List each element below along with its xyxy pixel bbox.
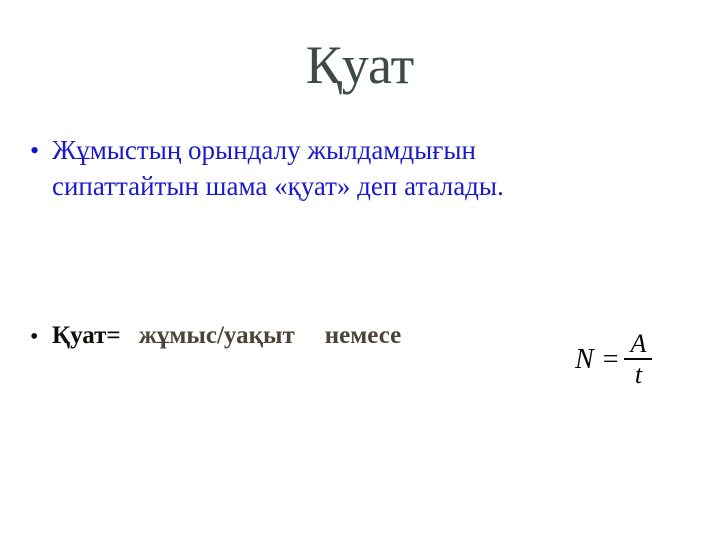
- formula-numerator-a: A: [627, 330, 651, 358]
- page-title: Қуат: [0, 36, 720, 94]
- slide-canvas: Қуат • Жұмыстың орындалу жылдамдығын сип…: [0, 0, 720, 540]
- bullet-text-formula: Қуат=жұмыс/уақытнемесе: [52, 320, 401, 352]
- formula-equals-sign: =: [594, 346, 625, 374]
- formula-denominator-t: t: [631, 360, 646, 389]
- power-term-label: Қуат=: [52, 322, 121, 349]
- power-expression-label: жұмыс/уақыт: [121, 322, 295, 349]
- definition-line-1: Жұмыстың орындалу жылдамдығын: [52, 135, 476, 165]
- bullet-point-icon: •: [22, 132, 52, 164]
- conjunction-label: немесе: [295, 322, 401, 349]
- bullet-point-icon: •: [22, 320, 52, 349]
- bullet-item-definition: • Жұмыстың орындалу жылдамдығын сипаттай…: [22, 132, 642, 204]
- bullet-item-formula-text: • Қуат=жұмыс/уақытнемесе: [22, 320, 642, 352]
- bullet-text-definition: Жұмыстың орындалу жылдамдығын сипаттайты…: [52, 132, 504, 204]
- formula-fraction: A t: [624, 330, 652, 389]
- formula-variable-n: N: [575, 346, 594, 374]
- definition-line-2: сипаттайтын шама «қуат» деп аталады.: [52, 168, 504, 204]
- power-formula: N = A t: [575, 330, 652, 389]
- slide-body: • Жұмыстың орындалу жылдамдығын сипаттай…: [22, 132, 642, 352]
